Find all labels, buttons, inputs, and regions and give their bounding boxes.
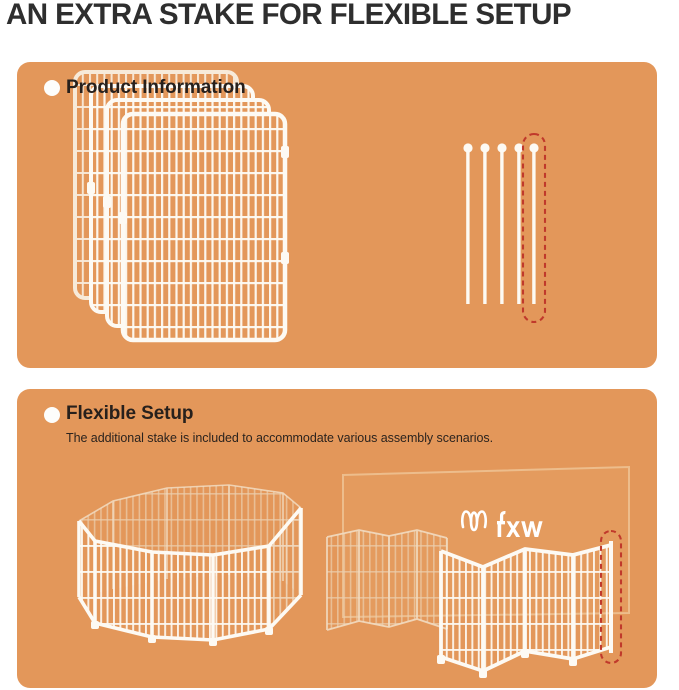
card-product-information: Product Information	[17, 62, 657, 368]
mesh-panel-1	[119, 114, 289, 340]
card-flexible-setup: Flexible Setup The additional stake is i…	[17, 389, 657, 688]
product-information-illustration	[17, 62, 657, 368]
stake-3	[497, 143, 506, 304]
front-fence-panels	[437, 545, 611, 678]
product-infographic-page: AN EXTRA STAKE FOR FLEXIBLE SETUP	[0, 0, 679, 690]
stake-1	[463, 143, 472, 304]
octagon-playpen	[79, 485, 301, 646]
stake-2	[480, 143, 489, 304]
ghost-fence-panels	[327, 530, 447, 630]
bullet-dot-icon	[44, 407, 60, 423]
zigzag-fence-scene	[327, 467, 629, 678]
card-flexible-heading: Flexible Setup	[66, 403, 193, 425]
ground-stakes-row	[463, 134, 545, 322]
card-product-heading: Product Information	[66, 77, 246, 99]
card-flexible-subtitle: The additional stake is included to acco…	[66, 430, 493, 446]
stake-5-highlighted	[529, 143, 538, 304]
bullet-dot-icon	[44, 80, 60, 96]
page-title: AN EXTRA STAKE FOR FLEXIBLE SETUP	[6, 0, 668, 32]
